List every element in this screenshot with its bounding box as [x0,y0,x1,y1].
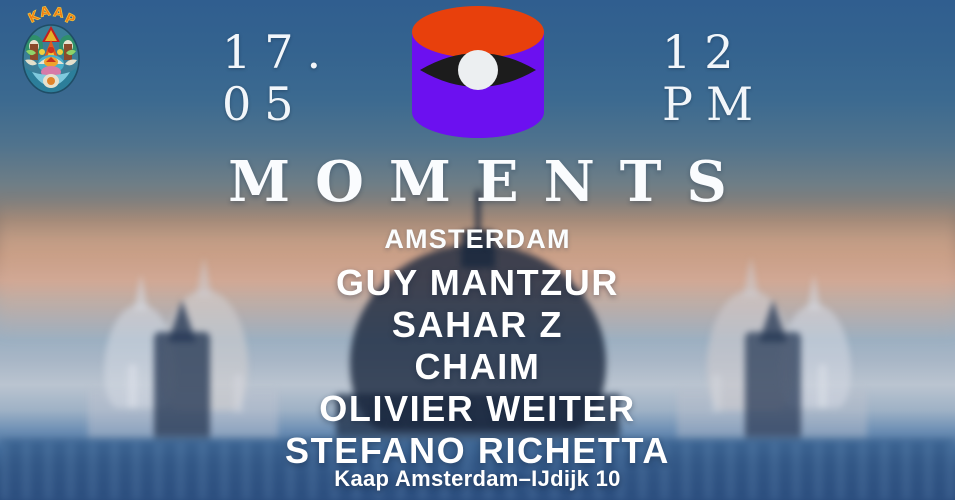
artist-name: SAHAR Z [0,304,955,346]
artist-name: CHAIM [0,346,955,388]
svg-text:P: P [62,11,77,29]
artist-lineup: GUY MANTZUR SAHAR Z CHAIM OLIVIER WEITER… [0,262,955,472]
venue-address: Kaap Amsterdam–IJdijk 10 [0,466,955,492]
event-time: 12 PM [662,26,766,130]
artist-name: OLIVIER WEITER [0,388,955,430]
svg-text:A: A [52,6,64,22]
svg-text:A: A [39,6,52,21]
kaap-emblem-icon[interactable]: K A A P [12,6,90,98]
eye-cylinder-icon[interactable] [402,4,554,140]
event-time-line2: PM [662,78,766,130]
event-date-line2: 05 [222,78,334,130]
event-title: MOMENTS [0,152,955,212]
event-time-line1: 12 [662,26,766,78]
artist-name: GUY MANTZUR [0,262,955,304]
event-poster: K A A P 17 [0,0,955,500]
event-city: AMSTERDAM [0,224,955,254]
event-date: 17. 05 [222,26,334,130]
event-date-line1: 17. [222,26,334,78]
